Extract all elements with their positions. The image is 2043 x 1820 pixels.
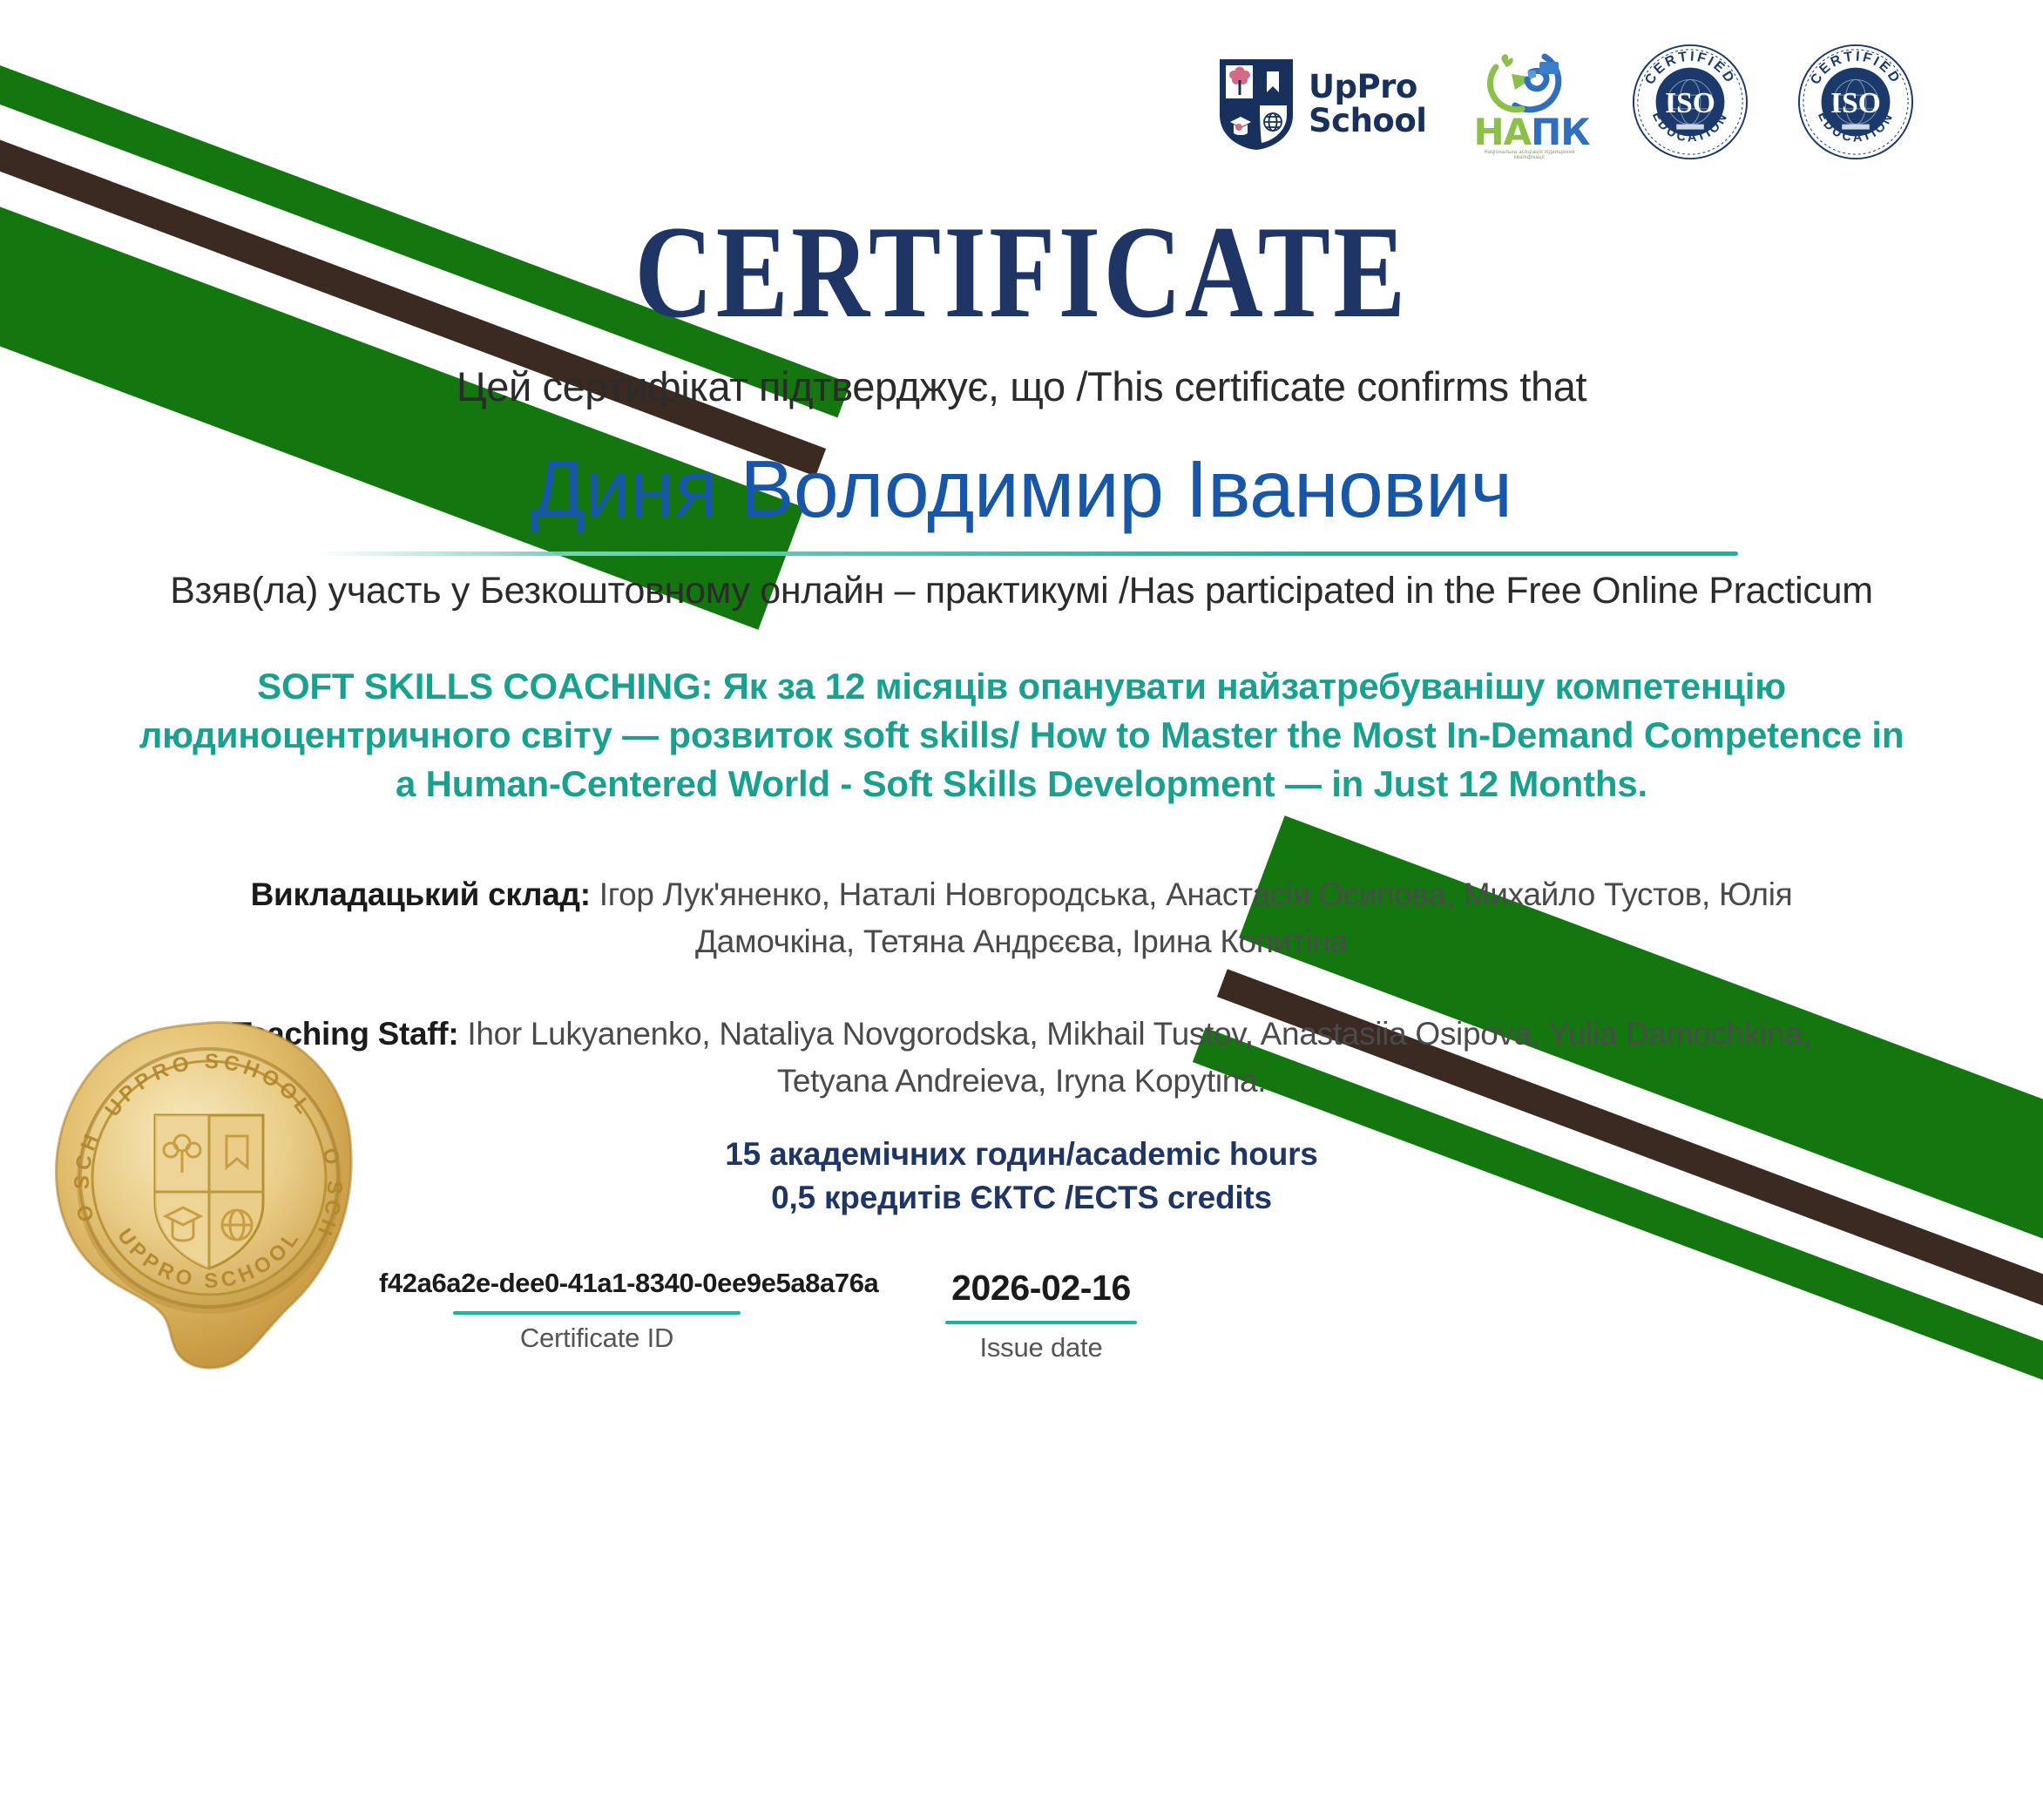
uppro-wordmark-line1: UpPro	[1309, 71, 1426, 105]
certificate-id-block: f42a6a2e-dee0-41a1-8340-0ee9e5a8a76a Cer…	[379, 1268, 815, 1354]
iso-certified-education-seal-1: ISO CERTIFIED EDUCATION	[1630, 42, 1750, 166]
certificate-id-rule	[453, 1311, 741, 1315]
teaching-staff-ukrainian: Викладацький склад: Ігор Лук'яненко, Нат…	[227, 871, 1816, 964]
napk-wordmark: НАПК	[1473, 116, 1585, 149]
issue-date-label: Issue date	[928, 1332, 1154, 1363]
certificate-sheet: UpPro School НАПК Національна асоціація …	[0, 0, 2043, 1445]
iso-certified-education-seal-2: ISO CERTIFIED EDUCATION	[1796, 42, 1916, 166]
teaching-staff-ua-label: Викладацький склад:	[251, 876, 591, 912]
teaching-staff-ua-names: Ігор Лук'яненко, Наталі Новгородська, Ан…	[591, 876, 1793, 959]
svg-text:ISO: ISO	[1831, 87, 1882, 119]
course-title: SOFT SKILLS COACHING: Як за 12 місяців о…	[135, 662, 1908, 809]
recipient-name: Диня Володимир Іванович	[0, 443, 2043, 536]
napk-tagline: Національна асоціація підвищення кваліфі…	[1473, 150, 1585, 160]
napk-word-blue: ПК	[1531, 111, 1589, 153]
napk-circle-icon	[1473, 48, 1585, 116]
logo-row: UpPro School НАПК Національна асоціація …	[1218, 42, 1916, 166]
recipient-name-underline	[316, 551, 1738, 556]
napk-logo: НАПК Національна асоціація підвищення кв…	[1473, 48, 1585, 161]
uppro-wordmark-line2: School	[1309, 105, 1426, 139]
uppro-wordmark: UpPro School	[1309, 71, 1426, 139]
uppro-school-logo: UpPro School	[1218, 58, 1426, 152]
teaching-staff-en-names: Ihor Lukyanenko, Nataliya Novgorodska, M…	[458, 1016, 1810, 1099]
gold-wax-seal-icon: UPPRO SCHOOL UPPRO SCHOOL UPPRO SCHOOL U…	[42, 1011, 364, 1377]
svg-text:ISO: ISO	[1666, 87, 1716, 119]
teaching-staff-english: Teaching Staff: Ihor Lukyanenko, Nataliy…	[227, 1011, 1816, 1104]
confirmation-line: Цей сертифікат підтверджує, що /This cer…	[0, 362, 2043, 410]
uppro-shield-icon	[1218, 58, 1295, 152]
certificate-id-value: f42a6a2e-dee0-41a1-8340-0ee9e5a8a76a	[379, 1268, 815, 1299]
issue-date-rule	[945, 1321, 1137, 1324]
participation-line: Взяв(ла) участь у Безкоштовному онлайн –…	[0, 568, 2043, 615]
issue-date-block: 2026-02-16 Issue date	[928, 1268, 1154, 1363]
issue-date-value: 2026-02-16	[928, 1268, 1154, 1309]
certificate-id-label: Certificate ID	[379, 1323, 815, 1354]
page-title: CERTIFICATE	[184, 206, 1859, 338]
napk-word-green: НА	[1473, 111, 1531, 153]
